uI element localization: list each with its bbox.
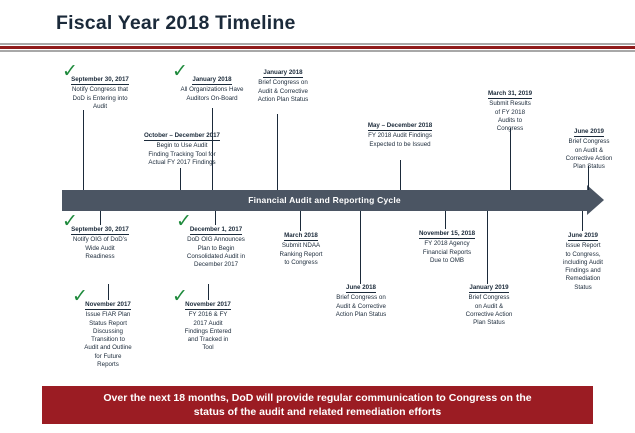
milestone-heading: June 2019 [574,128,604,137]
connector-line [300,211,301,231]
milestone-body: DoD OIG Announces Plan to Begin Consolid… [168,236,264,269]
milestone-jun-2019-issue-report: June 2019 Issue Report to Congress, incl… [550,232,616,292]
check-icon: ✓ [62,212,78,231]
header-stripe-gray-bottom [0,50,635,52]
check-icon: ✓ [172,62,188,81]
milestone-nov-2017-fiar-plan: November 2017 Issue FIAR Plan Status Rep… [68,301,148,369]
milestone-dec-1-2017-dod-oig-announces: December 1, 2017 DoD OIG Announces Plan … [168,226,264,269]
milestone-heading: September 30, 2017 [71,76,129,85]
header-divider [0,43,635,55]
milestone-jan-2018-brief-congress: January 2018 Brief Congress on Audit & C… [244,69,322,104]
milestone-heading: June 2019 [568,232,598,241]
check-icon: ✓ [72,287,88,306]
milestone-body: Issue Report to Congress, including Audi… [550,242,616,292]
footer-banner: Over the next 18 months, DoD will provid… [42,386,593,424]
timeline-arrow-head-icon [587,185,604,215]
milestone-heading: September 30, 2017 [71,226,129,235]
milestone-jan-2019-brief-congress: January 2019 Brief Congress on Audit & C… [450,284,528,327]
header-stripe-red [0,46,635,49]
milestone-heading: March 31, 2019 [488,90,532,99]
connector-line [83,110,84,190]
milestone-jun-2018-brief-congress: June 2018 Brief Congress on Audit & Corr… [318,284,404,319]
milestone-body: Submit Results of FY 2018 Audits to Cong… [476,100,544,133]
connector-line [445,211,446,229]
page-title: Fiscal Year 2018 Timeline [56,12,296,35]
connector-line [400,160,401,190]
milestone-heading: October – December 2017 [144,132,220,141]
milestone-heading: January 2018 [263,69,302,78]
milestone-body: Submit NDAA Ranking Report to Congress [265,242,337,267]
connector-line [180,168,181,190]
milestone-body: Notify Congress that DoD is Entering int… [52,86,148,111]
connector-line [510,128,511,190]
milestone-oct-dec-2017-audit-finding-tool: October – December 2017 Begin to Use Aud… [126,132,238,167]
milestone-nov-2017-fy2016-findings: November 2017 FY 2016 & FY 2017 Audit Fi… [168,301,248,353]
milestone-heading: June 2018 [346,284,376,293]
connector-line [100,211,101,225]
milestone-heading: November 15, 2018 [419,230,475,239]
milestone-body: Issue FIAR Plan Status Report Discussing… [68,311,148,369]
footer-line-1: Over the next 18 months, DoD will provid… [103,391,531,405]
milestone-heading: November 2017 [85,301,131,310]
milestone-body: Begin to Use Audit Finding Tracking Tool… [126,142,238,167]
milestone-heading: May – December 2018 [368,122,432,131]
milestone-body: Brief Congress on Audit & Corrective Act… [450,294,528,327]
milestone-body: Brief Congress on Audit & Corrective Act… [318,294,404,319]
check-icon: ✓ [62,62,78,81]
milestone-heading: November 2017 [185,301,231,310]
milestone-heading: January 2019 [469,284,508,293]
connector-line [108,284,109,300]
milestone-may-dec-2018-audit-findings: May – December 2018 FY 2018 Audit Findin… [345,122,455,149]
milestone-body: Brief Congress on Audit & Corrective Act… [244,79,322,104]
connector-line [582,211,583,231]
milestone-heading: January 2018 [192,76,231,85]
milestone-body: Brief Congress on Audit & Corrective Act… [550,138,628,171]
milestone-heading: December 1, 2017 [190,226,242,235]
check-icon: ✓ [176,212,192,231]
milestone-nov-15-2018-financial-reports: November 15, 2018 FY 2018 Agency Financi… [406,230,488,265]
check-icon: ✓ [172,287,188,306]
connector-line [360,211,361,284]
footer-line-2: status of the audit and related remediat… [103,405,531,419]
milestone-body: Notify OIG of DoD’s Wide Audit Readiness [52,236,148,261]
milestone-mar-2018-submit-ndaa: March 2018 Submit NDAA Ranking Report to… [265,232,337,267]
timeline-bar-label: Financial Audit and Reporting Cycle [62,190,587,211]
header-stripe-gray-top [0,43,635,45]
milestone-jun-2019-brief-congress: June 2019 Brief Congress on Audit & Corr… [550,128,628,171]
milestone-mar-31-2019-submit-results: March 31, 2019 Submit Results of FY 2018… [476,90,544,133]
milestone-body: FY 2018 Agency Financial Reports Due to … [406,240,488,265]
milestone-heading: March 2018 [284,232,318,241]
connector-line [208,284,209,300]
slide: Fiscal Year 2018 Timeline Financial Audi… [0,0,635,433]
connector-line [215,211,216,225]
milestone-body: FY 2018 Audit Findings Expected to be Is… [345,132,455,149]
milestone-body: FY 2016 & FY 2017 Audit Findings Entered… [168,311,248,352]
connector-line [277,114,278,190]
